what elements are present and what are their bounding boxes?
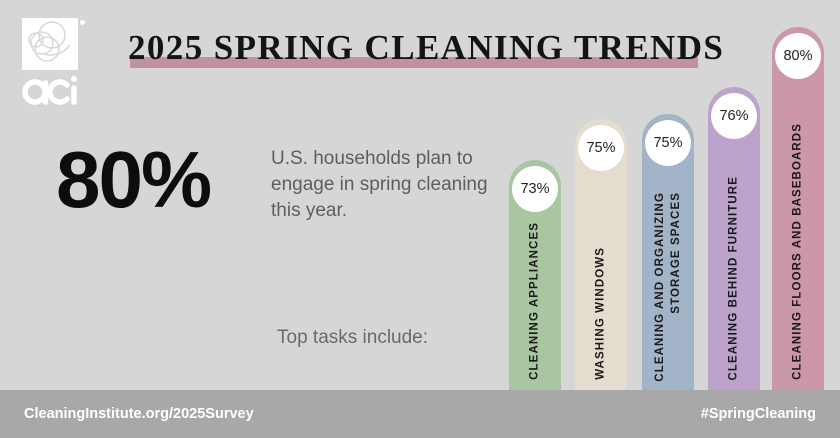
bar-category-label: WASHING WINDOWS bbox=[594, 247, 609, 380]
bar-category-label: CLEANING FLOORS AND BASEBOARDS bbox=[791, 123, 806, 380]
bar-cleaning-organizing-storage-spaces: 75% CLEANING AND ORGANIZING STORAGE SPAC… bbox=[642, 114, 694, 390]
bar-value-badge: 75% bbox=[578, 125, 624, 171]
bar-category-label: CLEANING AND ORGANIZING STORAGE SPACES bbox=[652, 192, 684, 382]
bar-cleaning-behind-furniture: 76% CLEANING BEHIND FURNITURE bbox=[708, 87, 760, 390]
infographic-canvas: 2025 SPRING CLEANING TRENDS 80% U.S. hou… bbox=[0, 0, 840, 438]
bar-value-badge: 73% bbox=[512, 166, 558, 212]
bar-value-badge: 80% bbox=[775, 33, 821, 79]
bar-cleaning-floors-and-baseboards: 80% CLEANING FLOORS AND BASEBOARDS bbox=[772, 27, 824, 390]
bar-category-label: CLEANING APPLIANCES bbox=[528, 222, 543, 380]
bar-chart: 73% CLEANING APPLIANCES 75% WASHING WIND… bbox=[0, 0, 840, 390]
footer-bar: CleaningInstitute.org/2025Survey #Spring… bbox=[0, 390, 840, 438]
bar-value-badge: 75% bbox=[645, 120, 691, 166]
bar-cleaning-appliances: 73% CLEANING APPLIANCES bbox=[509, 160, 561, 390]
footer-hashtag[interactable]: #SpringCleaning bbox=[701, 406, 816, 422]
bar-washing-windows: 75% WASHING WINDOWS bbox=[575, 119, 627, 390]
bar-category-label: CLEANING BEHIND FURNITURE bbox=[727, 176, 742, 380]
footer-survey-url[interactable]: CleaningInstitute.org/2025Survey bbox=[24, 406, 254, 422]
bar-value-badge: 76% bbox=[711, 93, 757, 139]
